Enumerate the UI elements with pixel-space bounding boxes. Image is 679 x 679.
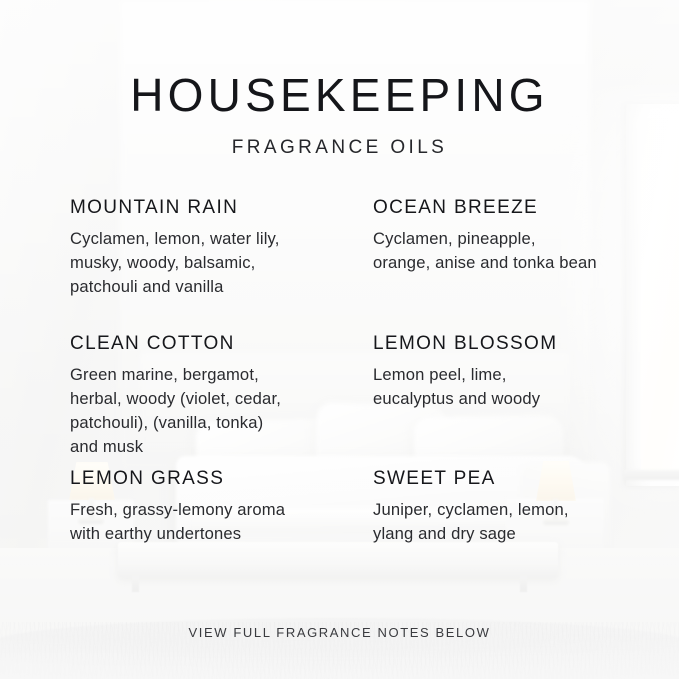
fragrance-name: MOUNTAIN RAIN xyxy=(70,198,373,217)
fragrance-row: LEMON GRASS Fresh, grassy-lemony aroma w… xyxy=(70,469,630,559)
fragrance-notes: Cyclamen, pineapple, orange, anise and t… xyxy=(373,227,673,275)
fragrance-notes: Green marine, bergamot, herbal, woody (v… xyxy=(70,363,373,459)
fragrance-name: LEMON BLOSSOM xyxy=(373,334,673,353)
fragrance-item-sweet-pea: SWEET PEA Juniper, cyclamen, lemon, ylan… xyxy=(373,469,673,559)
view-full-notes-label: VIEW FULL FRAGRANCE NOTES BELOW xyxy=(0,626,679,639)
fragrance-item-clean-cotton: CLEAN COTTON Green marine, bergamot, her… xyxy=(70,334,373,469)
fragrance-row: MOUNTAIN RAIN Cyclamen, lemon, water lil… xyxy=(70,198,630,334)
fragrance-item-lemon-blossom: LEMON BLOSSOM Lemon peel, lime, eucalypt… xyxy=(373,334,673,469)
page-title: HOUSEKEEPING xyxy=(0,72,679,118)
fragrance-name: SWEET PEA xyxy=(373,469,673,488)
poster-content: HOUSEKEEPING FRAGRANCE OILS MOUNTAIN RAI… xyxy=(0,0,679,679)
fragrance-name: LEMON GRASS xyxy=(70,469,373,488)
fragrance-row: CLEAN COTTON Green marine, bergamot, her… xyxy=(70,334,630,469)
fragrance-notes: Juniper, cyclamen, lemon, ylang and dry … xyxy=(373,498,673,546)
fragrance-notes: Lemon peel, lime, eucalyptus and woody xyxy=(373,363,673,411)
poster-canvas: HOUSEKEEPING FRAGRANCE OILS MOUNTAIN RAI… xyxy=(0,0,679,679)
fragrance-grid: MOUNTAIN RAIN Cyclamen, lemon, water lil… xyxy=(70,198,630,559)
fragrance-name: CLEAN COTTON xyxy=(70,334,373,353)
fragrance-notes: Cyclamen, lemon, water lily, musky, wood… xyxy=(70,227,373,299)
page-subtitle: FRAGRANCE OILS xyxy=(0,138,679,157)
fragrance-item-ocean-breeze: OCEAN BREEZE Cyclamen, pineapple, orange… xyxy=(373,198,673,334)
fragrance-notes: Fresh, grassy-lemony aroma with earthy u… xyxy=(70,498,373,546)
fragrance-item-mountain-rain: MOUNTAIN RAIN Cyclamen, lemon, water lil… xyxy=(70,198,373,334)
fragrance-item-lemon-grass: LEMON GRASS Fresh, grassy-lemony aroma w… xyxy=(70,469,373,559)
fragrance-name: OCEAN BREEZE xyxy=(373,198,673,217)
